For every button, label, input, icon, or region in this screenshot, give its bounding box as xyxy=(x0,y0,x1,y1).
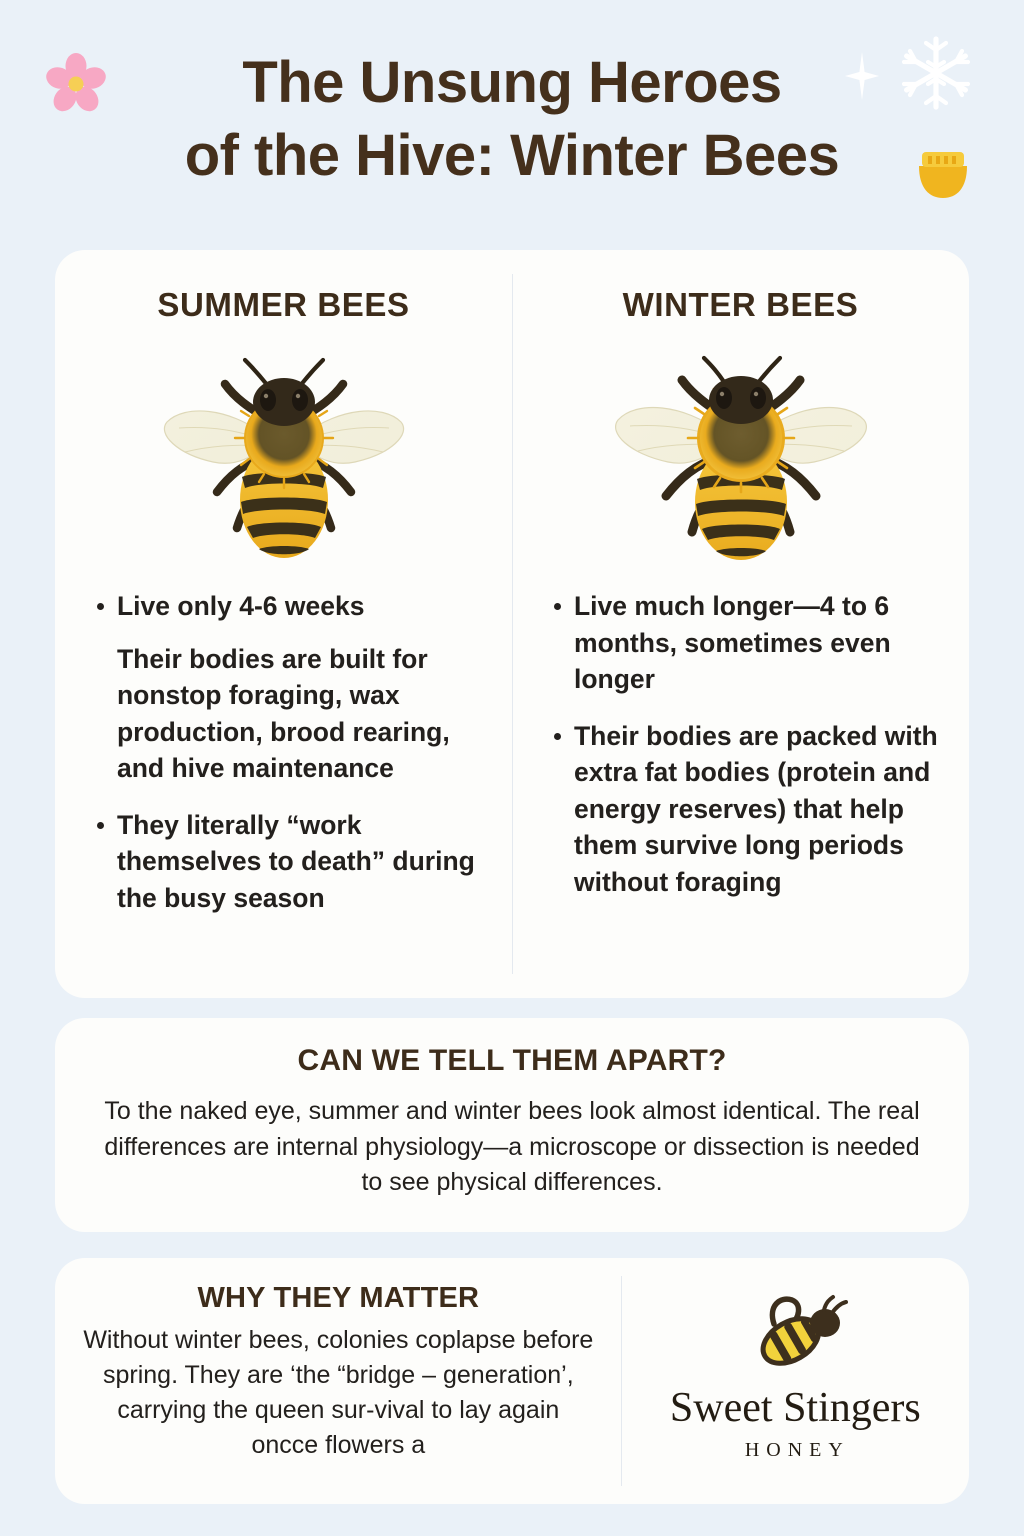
list-item: Their bodies are packed with extra fat b… xyxy=(542,718,939,901)
list-item: Live much longer—4 to 6 months, sometime… xyxy=(542,588,939,698)
list-item: Their bodies are built for nonstop forag… xyxy=(85,641,482,787)
brand-subtitle: HONEY xyxy=(745,1439,850,1462)
why-they-matter-card: WHY THEY MATTER Without winter bees, col… xyxy=(55,1258,969,1504)
summer-bees-column: SUMMER BEES xyxy=(55,250,512,998)
comparison-card: SUMMER BEES xyxy=(55,250,969,998)
summer-bee-illustration xyxy=(85,342,482,574)
why-panel-divider xyxy=(621,1276,622,1486)
winter-bees-bullet-list: Live much longer—4 to 6 months, sometime… xyxy=(542,588,939,901)
honey-pot-icon xyxy=(913,140,973,202)
summer-bees-bullet-list: Live only 4-6 weeks Their bodies are bui… xyxy=(85,588,482,917)
page-title-line-2: of the Hive: Winter Bees xyxy=(40,119,984,192)
why-they-matter-heading: WHY THEY MATTER xyxy=(83,1282,594,1315)
brand-logo: Sweet Stingers HONEY xyxy=(622,1258,969,1504)
sparkle-icon xyxy=(845,52,879,100)
list-item: Live only 4-6 weeks xyxy=(85,588,482,625)
why-they-matter-text-panel: WHY THEY MATTER Without winter bees, col… xyxy=(55,1258,622,1504)
tell-apart-card: CAN WE TELL THEM APART? To the naked eye… xyxy=(55,1018,969,1232)
brand-name: Sweet Stingers xyxy=(670,1387,921,1429)
header: The Unsung Heroes of the Hive: Winter Be… xyxy=(0,0,1024,250)
tell-apart-heading: CAN WE TELL THEM APART? xyxy=(101,1044,923,1078)
bee-logo-icon xyxy=(740,1294,850,1383)
summer-bees-heading: SUMMER BEES xyxy=(85,286,482,324)
snowflake-icon xyxy=(897,34,975,112)
list-item: They literally “work themselves to death… xyxy=(85,807,482,917)
winter-bee-illustration xyxy=(542,342,939,574)
page-title: The Unsung Heroes of the Hive: Winter Be… xyxy=(40,46,984,192)
why-they-matter-body: Without winter bees, colonies coplapse b… xyxy=(83,1323,594,1463)
winter-bees-heading: WINTER BEES xyxy=(542,286,939,324)
page-title-line-1: The Unsung Heroes xyxy=(40,46,984,119)
cherry-blossom-icon xyxy=(44,52,108,116)
winter-bees-column: WINTER BEES xyxy=(512,250,969,998)
tell-apart-body: To the naked eye, summer and winter bees… xyxy=(101,1094,923,1201)
